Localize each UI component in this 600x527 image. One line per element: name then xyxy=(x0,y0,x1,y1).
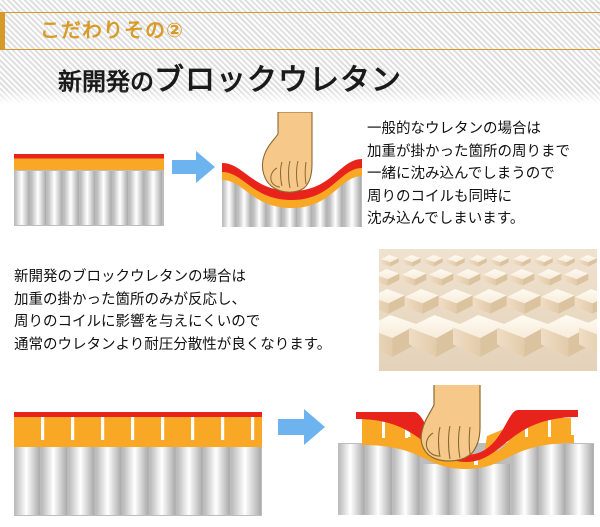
header-badge-label: こだわりその② xyxy=(40,16,184,46)
page-header: こだわりその② 新開発のブロックウレタン xyxy=(0,0,600,104)
header-fade xyxy=(0,90,600,104)
header-left-accent-bar xyxy=(0,12,5,50)
fist-press-icon xyxy=(421,385,480,461)
caption-line: 一緒に沈み込んでしまうので xyxy=(367,163,570,186)
header-rule-bottom xyxy=(0,49,600,50)
caption-line: 一般的なウレタンの場合は xyxy=(367,118,570,141)
arrow-right-icon-top xyxy=(172,150,216,184)
caption-line: 周りのコイルに影響を与えにくいので xyxy=(14,311,331,334)
block-urethane-photo xyxy=(378,248,598,372)
caption-line: 沈み込んでしまいます。 xyxy=(367,208,570,231)
infographic-page: こだわりその② 新開発のブロックウレタン xyxy=(0,0,600,527)
caption-normal-urethane: 一般的なウレタンの場合は 加重が掛かった箇所の周りまで 一緒に沈み込んでしまうの… xyxy=(367,118,570,231)
fist-press-icon xyxy=(262,112,312,192)
caption-line: 加重が掛かった箇所の周りまで xyxy=(367,141,570,164)
caption-line: 通常のウレタンより耐圧分散性が良くなります。 xyxy=(14,334,331,357)
caption-line: 周りのコイルも同時に xyxy=(367,186,570,209)
figure-block-urethane-flat xyxy=(14,408,262,516)
figure-block-urethane-pressed xyxy=(338,385,594,515)
caption-line: 新開発のブロックウレタンの場合は xyxy=(14,266,331,289)
caption-line: 加重の掛かった箇所のみが反応し、 xyxy=(14,289,331,312)
figure-normal-urethane-flat xyxy=(14,148,164,226)
figure-normal-urethane-pressed xyxy=(222,112,362,227)
arrow-right-icon-bottom xyxy=(278,408,326,446)
header-rule-top xyxy=(0,12,600,13)
caption-block-urethane: 新開発のブロックウレタンの場合は 加重の掛かった箇所のみが反応し、 周りのコイル… xyxy=(14,266,331,356)
